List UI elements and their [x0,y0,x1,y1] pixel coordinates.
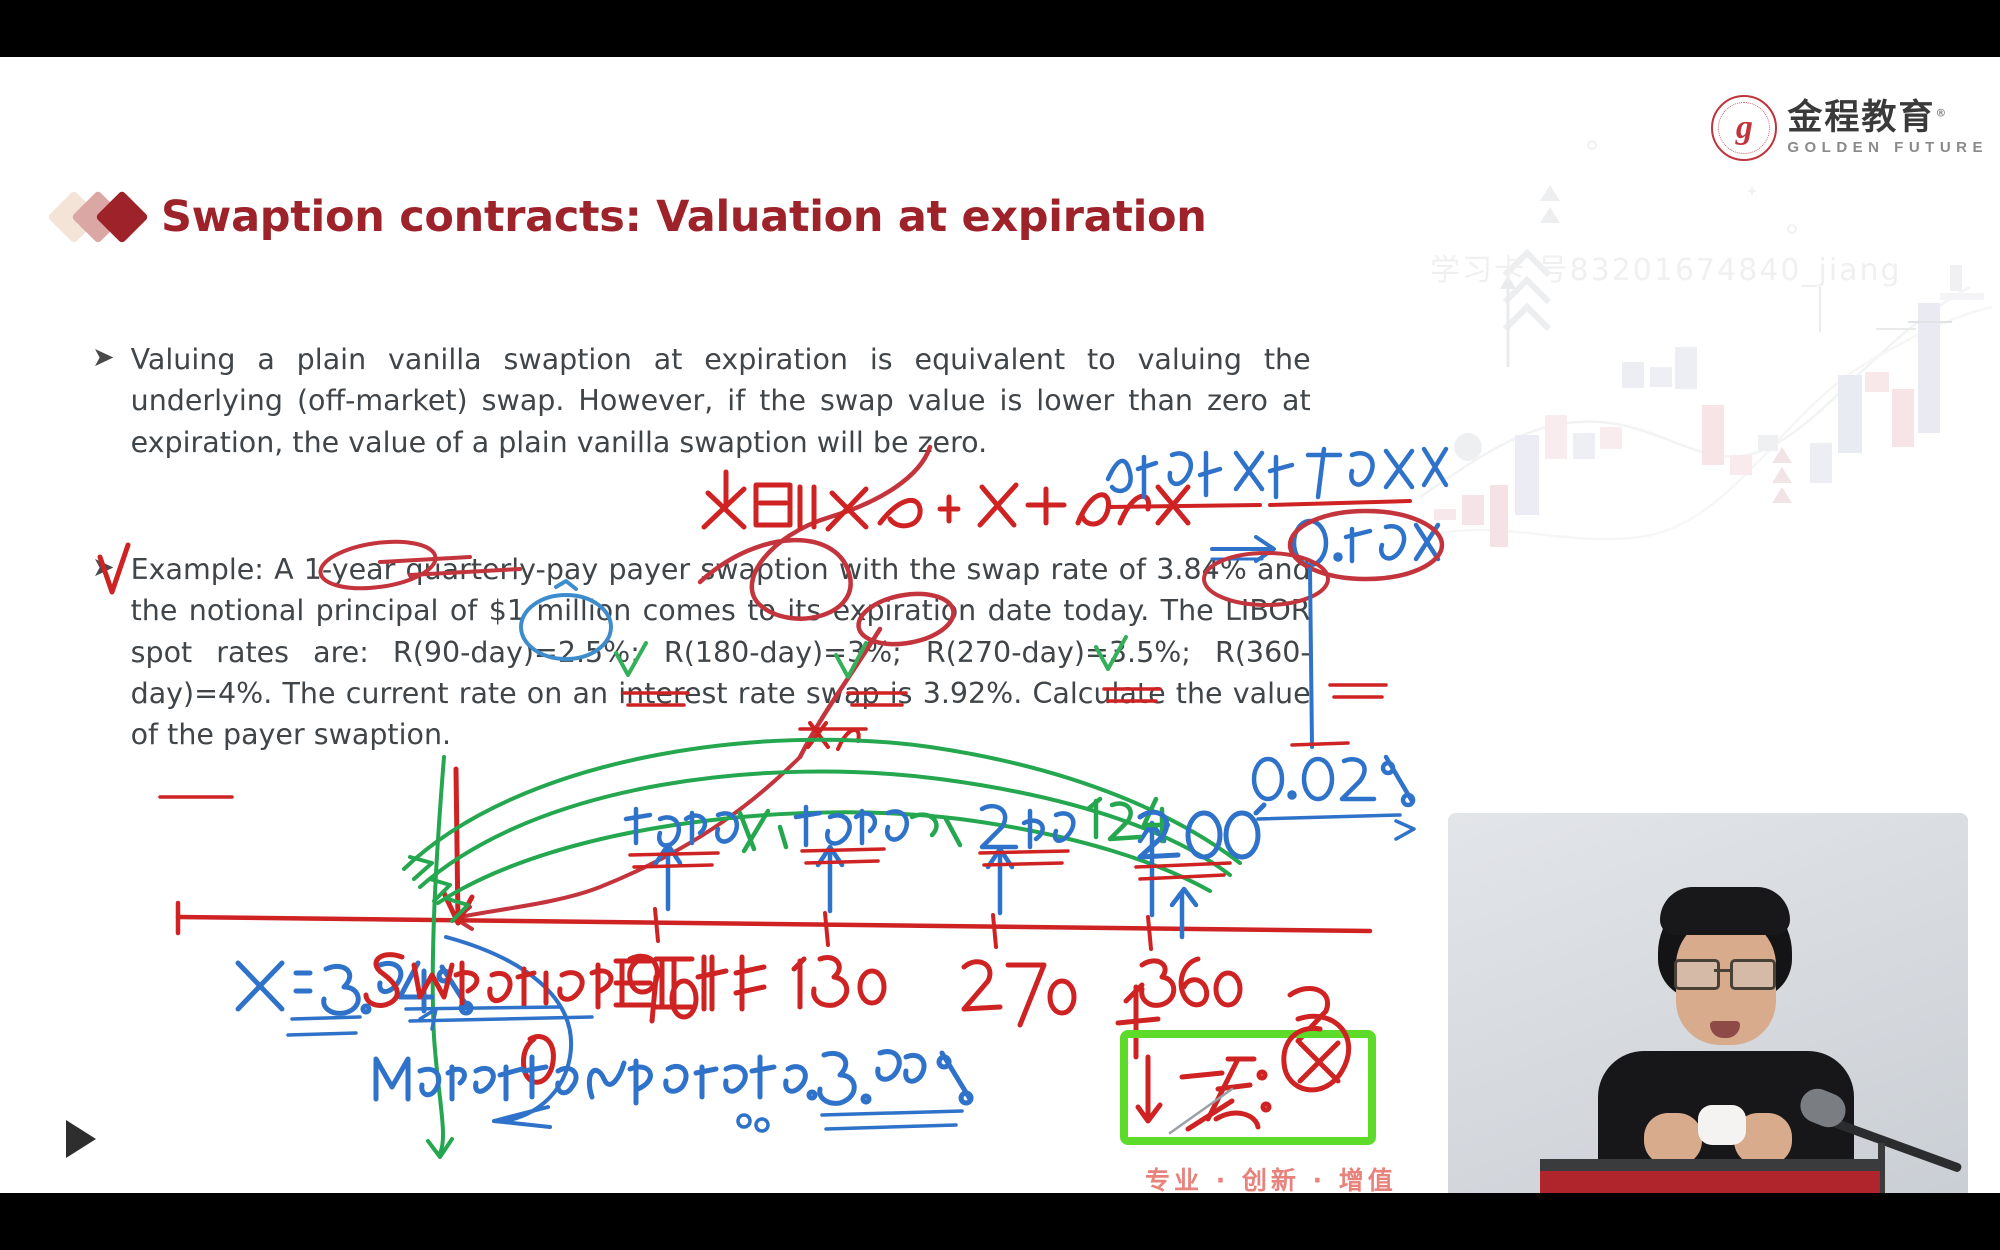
logo-chinese-name: 金程教育® [1787,101,1988,136]
bullet-arrow-icon: ➤ [92,554,115,756]
presenter-hand-left [1644,1113,1702,1165]
presenter-glasses-right [1730,959,1776,990]
registered-mark: ® [1935,106,1948,119]
brand-logo: g 金程教育® GOLDEN FUTURE [1711,95,1988,161]
letterbox-bottom [0,1193,2000,1250]
presenter-fringe [1660,887,1790,935]
bullet-item-2: ➤ Example: A 1-year quarterly-pay payer … [92,549,1311,756]
podium [1540,1171,1880,1193]
slide-title-row: Swaption contracts: Valuation at expirat… [55,192,1207,242]
play-icon[interactable] [66,1120,96,1158]
bullet-text-1: Valuing a plain vanilla swaption at expi… [131,339,1311,463]
logo-seal-icon: g [1711,95,1777,161]
bullet-text-2: Example: A 1-year quarterly-pay payer sw… [131,549,1311,756]
slide-canvas: 学习卡 号83201674840_jiang g 金程教育® GOLDEN FU… [0,57,2000,1193]
brand-tagline: 专业 · 创新 · 增值 [1145,1161,1397,1193]
presenter-tissue [1698,1105,1746,1145]
logo-monogram: g [1736,111,1753,145]
presenter-glasses-bridge [1714,969,1730,972]
presenter-glasses-left [1674,959,1720,990]
letterbox-top [0,0,2000,57]
watermark-text: 学习卡 号83201674840_jiang [1430,245,1902,289]
presenter-video[interactable] [1448,813,1968,1193]
bullet-arrow-icon: ➤ [92,344,115,463]
screen-root: 学习卡 号83201674840_jiang g 金程教育® GOLDEN FU… [0,0,2000,1250]
decorative-finance-graphic [1410,117,2000,807]
bullet-item-1: ➤ Valuing a plain vanilla swaption at ex… [92,339,1311,463]
page-title: Swaption contracts: Valuation at expirat… [161,192,1207,242]
logo-english-name: GOLDEN FUTURE [1787,140,1988,155]
